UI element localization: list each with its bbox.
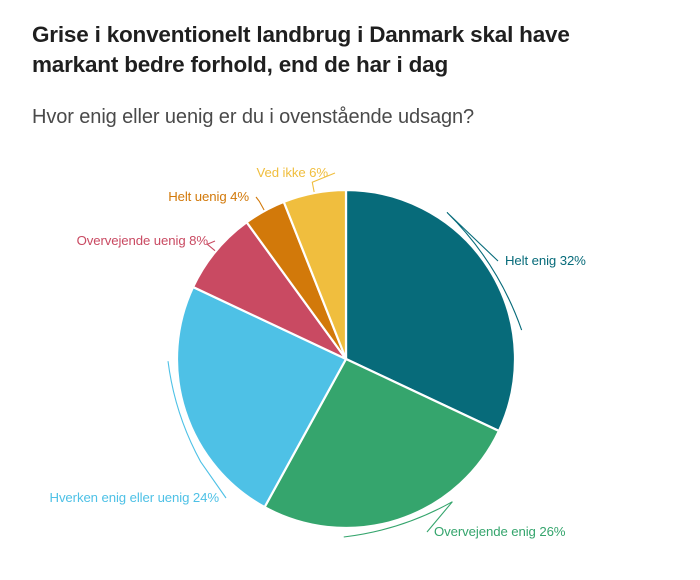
pie-slice-label: Overvejende uenig 8% [77,233,209,248]
pie-slice-label: Helt enig 32% [505,253,586,268]
pie-slice-label: Hverken enig eller uenig 24% [50,490,220,505]
pie-slice-label: Helt uenig 4% [168,189,249,204]
pie-leader-line [256,197,264,210]
pie-slices [177,190,515,528]
pie-slice-label: Ved ikke 6% [257,165,329,180]
pie-leader-line [207,241,215,251]
pie-chart: Helt enig 32%Overvejende enig 26%Hverken… [0,0,700,580]
pie-chart-svg: Helt enig 32%Overvejende enig 26%Hverken… [0,0,700,580]
chart-page: Grise i konventionelt landbrug i Danmark… [0,0,700,580]
pie-slice-label: Overvejende enig 26% [434,524,566,539]
